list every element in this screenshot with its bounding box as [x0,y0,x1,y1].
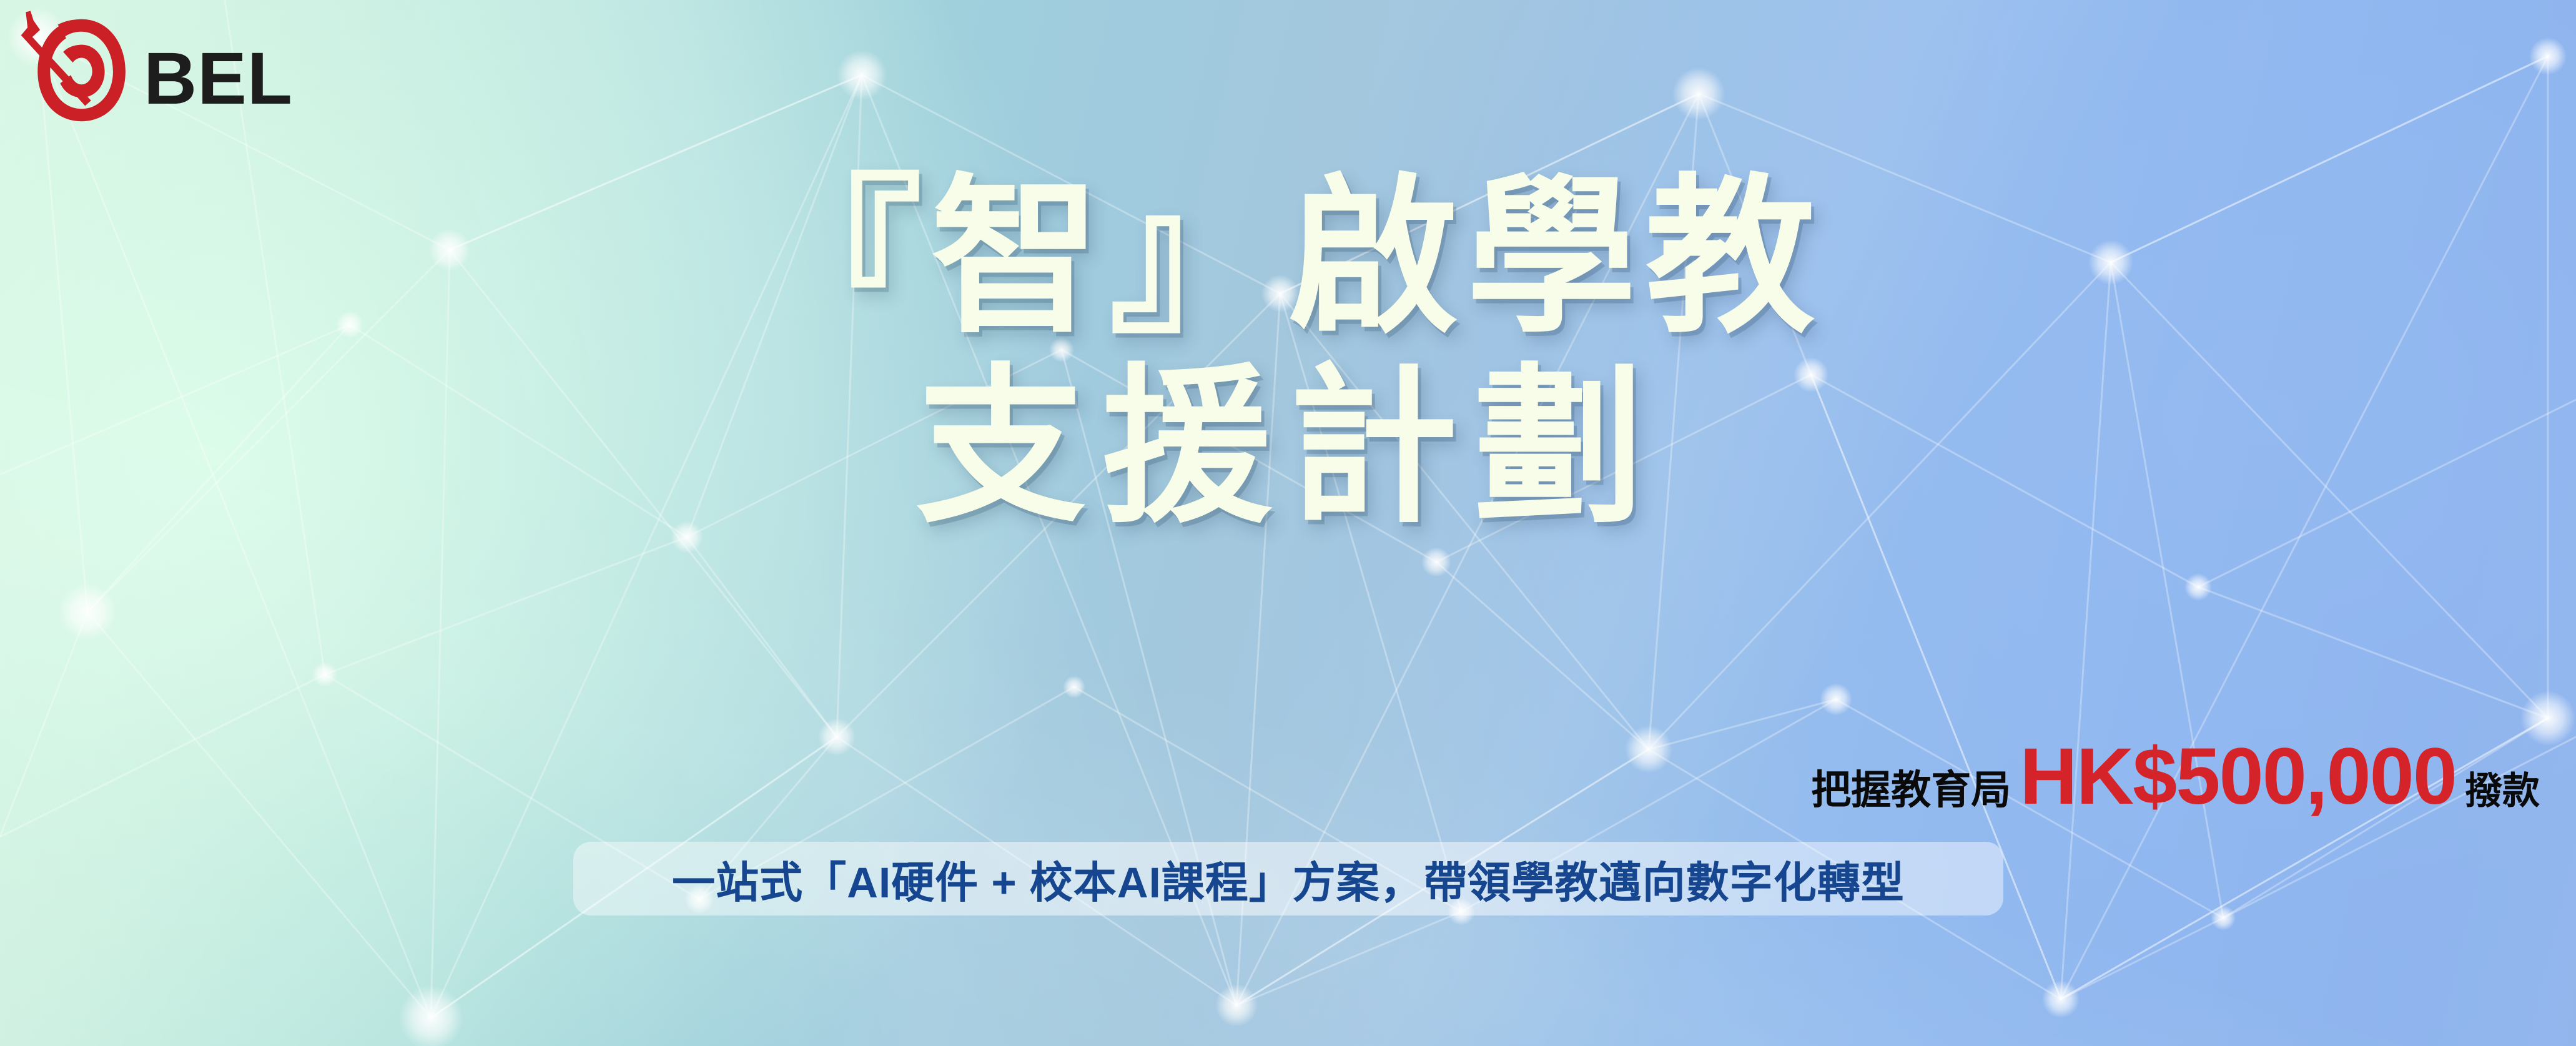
bel-target-arrow-icon [17,5,136,124]
subtitle-text: 一站式「AI硬件 + 校本AI課程」方案，帶領學教邁向數字化轉型 [573,842,2003,915]
headline-block: 『智』啟學教 支援計劃 [0,167,2576,538]
brand-logo[interactable]: BEL [17,5,293,124]
headline-line-1: 『智』啟學教 [0,167,2576,347]
funding-amount: HK$500,000 [2020,737,2456,817]
funding-callout: 把握教育局 HK$500,000 撥款 [1811,737,2540,817]
promo-banner: BEL 『智』啟學教 支援計劃 把握教育局 HK$500,000 撥款 一站式「… [0,0,2576,1046]
funding-prefix: 把握教育局 [1811,770,2011,810]
funding-suffix: 撥款 [2465,772,2540,810]
headline-line-2: 支援計劃 [0,357,2576,537]
brand-wordmark: BEL [144,42,293,116]
